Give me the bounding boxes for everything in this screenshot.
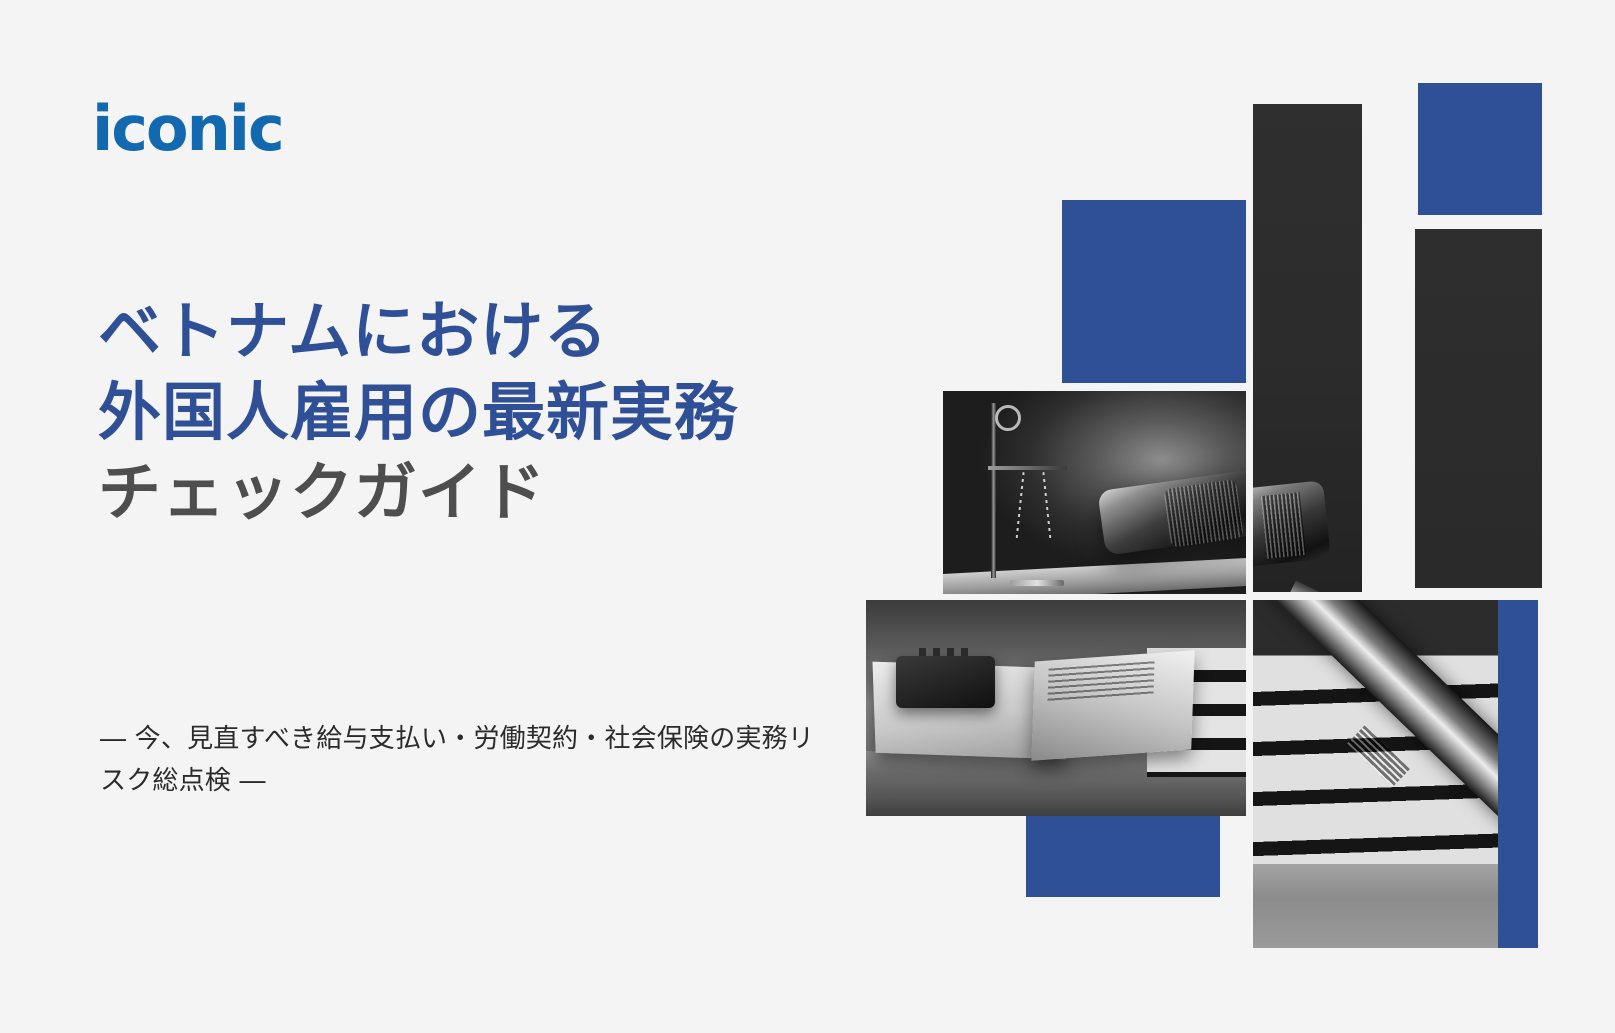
scale-pan-shape xyxy=(1010,580,1065,586)
scale-hook-shape xyxy=(995,405,1021,431)
open-books-photo xyxy=(866,600,1246,816)
gavel-rings-shape xyxy=(1261,493,1307,560)
gavel-shaft-shape xyxy=(1281,581,1362,592)
gavel-handle-photo xyxy=(1253,600,1498,948)
blue-square-left xyxy=(1062,200,1246,383)
scale-arm-shape xyxy=(988,466,1067,470)
dark-right-column xyxy=(1415,229,1542,588)
scale-chain-right-shape xyxy=(1042,472,1051,541)
blue-rect-bottom xyxy=(1026,816,1220,897)
slide-canvas: iconic ベトナムにおける 外国人雇用の最新実務 チェックガイド ― 今、見… xyxy=(0,0,1615,1033)
scales-gavel-photo xyxy=(943,391,1246,594)
blue-strip-right xyxy=(1498,600,1538,948)
book-text-lines-shape xyxy=(1048,661,1156,703)
table-surface-shape xyxy=(1253,864,1498,948)
dark-center-column xyxy=(1253,104,1362,592)
gavel-ring-detail xyxy=(1163,480,1243,548)
image-collage xyxy=(0,0,1615,1033)
book-clip-shape xyxy=(896,656,995,708)
scale-post-shape xyxy=(991,403,996,578)
book-clip-knobs-shape xyxy=(919,648,972,656)
scale-chain-left-shape xyxy=(1015,472,1024,541)
blue-square-top-right xyxy=(1418,83,1542,215)
desk-surface-shape xyxy=(943,558,1246,594)
